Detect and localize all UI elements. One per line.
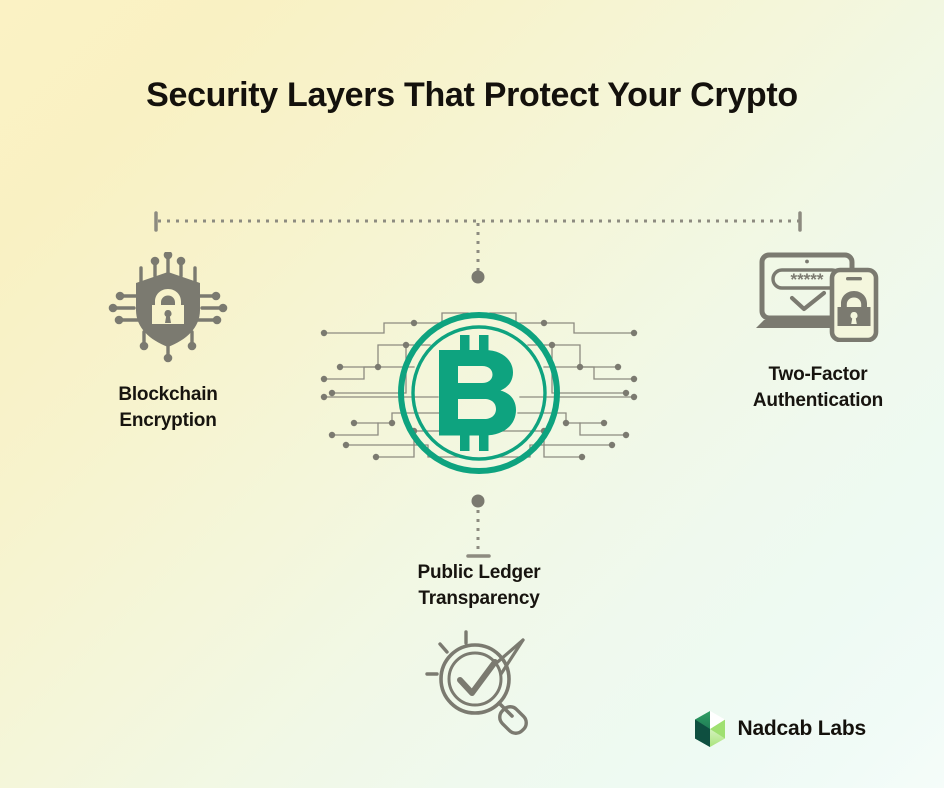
nadcab-cube-logo <box>693 710 727 748</box>
node-blockchain-encryption[interactable]: Blockchain Encryption <box>68 252 268 434</box>
magnifier-handle <box>496 703 530 736</box>
node-label-line2: Transparency <box>418 588 539 609</box>
phone-speaker <box>846 277 862 280</box>
node-label-line1: Two-Factor <box>769 364 868 385</box>
node-label: Two-Factor Authentication <box>700 362 936 414</box>
node-label-line1: Blockchain <box>118 384 217 405</box>
password-mask: ***** <box>790 270 823 289</box>
node-two-factor-authentication[interactable]: ***** Two-Factor Authentication <box>700 250 936 414</box>
bitcoin-circuit-icon <box>318 305 640 485</box>
bottom-connector-dot <box>472 495 485 508</box>
infographic-canvas: Security Layers That Protect Your Crypto <box>0 0 944 788</box>
node-label: Public Ledger Transparency <box>379 560 579 612</box>
node-public-ledger-transparency[interactable]: Public Ledger Transparency <box>379 560 579 736</box>
brand-name: Nadcab Labs <box>737 717 866 741</box>
node-label: Blockchain Encryption <box>68 382 268 434</box>
check-icon <box>792 293 824 309</box>
node-label-line2: Authentication <box>753 390 883 411</box>
page-title: Security Layers That Protect Your Crypto <box>0 76 944 115</box>
brand-logo-group[interactable]: Nadcab Labs <box>693 710 866 748</box>
center-bitcoin-node <box>318 305 640 485</box>
center-drop-dot <box>472 271 485 284</box>
magnifier-check-icon <box>419 626 539 736</box>
shield-lock-circuit-icon <box>108 252 228 364</box>
node-label-line1: Public Ledger <box>417 562 540 583</box>
check-icon <box>460 662 495 693</box>
bitcoin-b-glyph <box>439 335 516 451</box>
laptop-phone-lock-icon: ***** <box>754 250 882 342</box>
laptop-camera <box>805 260 809 264</box>
node-label-line2: Encryption <box>119 410 216 431</box>
phone-body <box>832 270 876 340</box>
